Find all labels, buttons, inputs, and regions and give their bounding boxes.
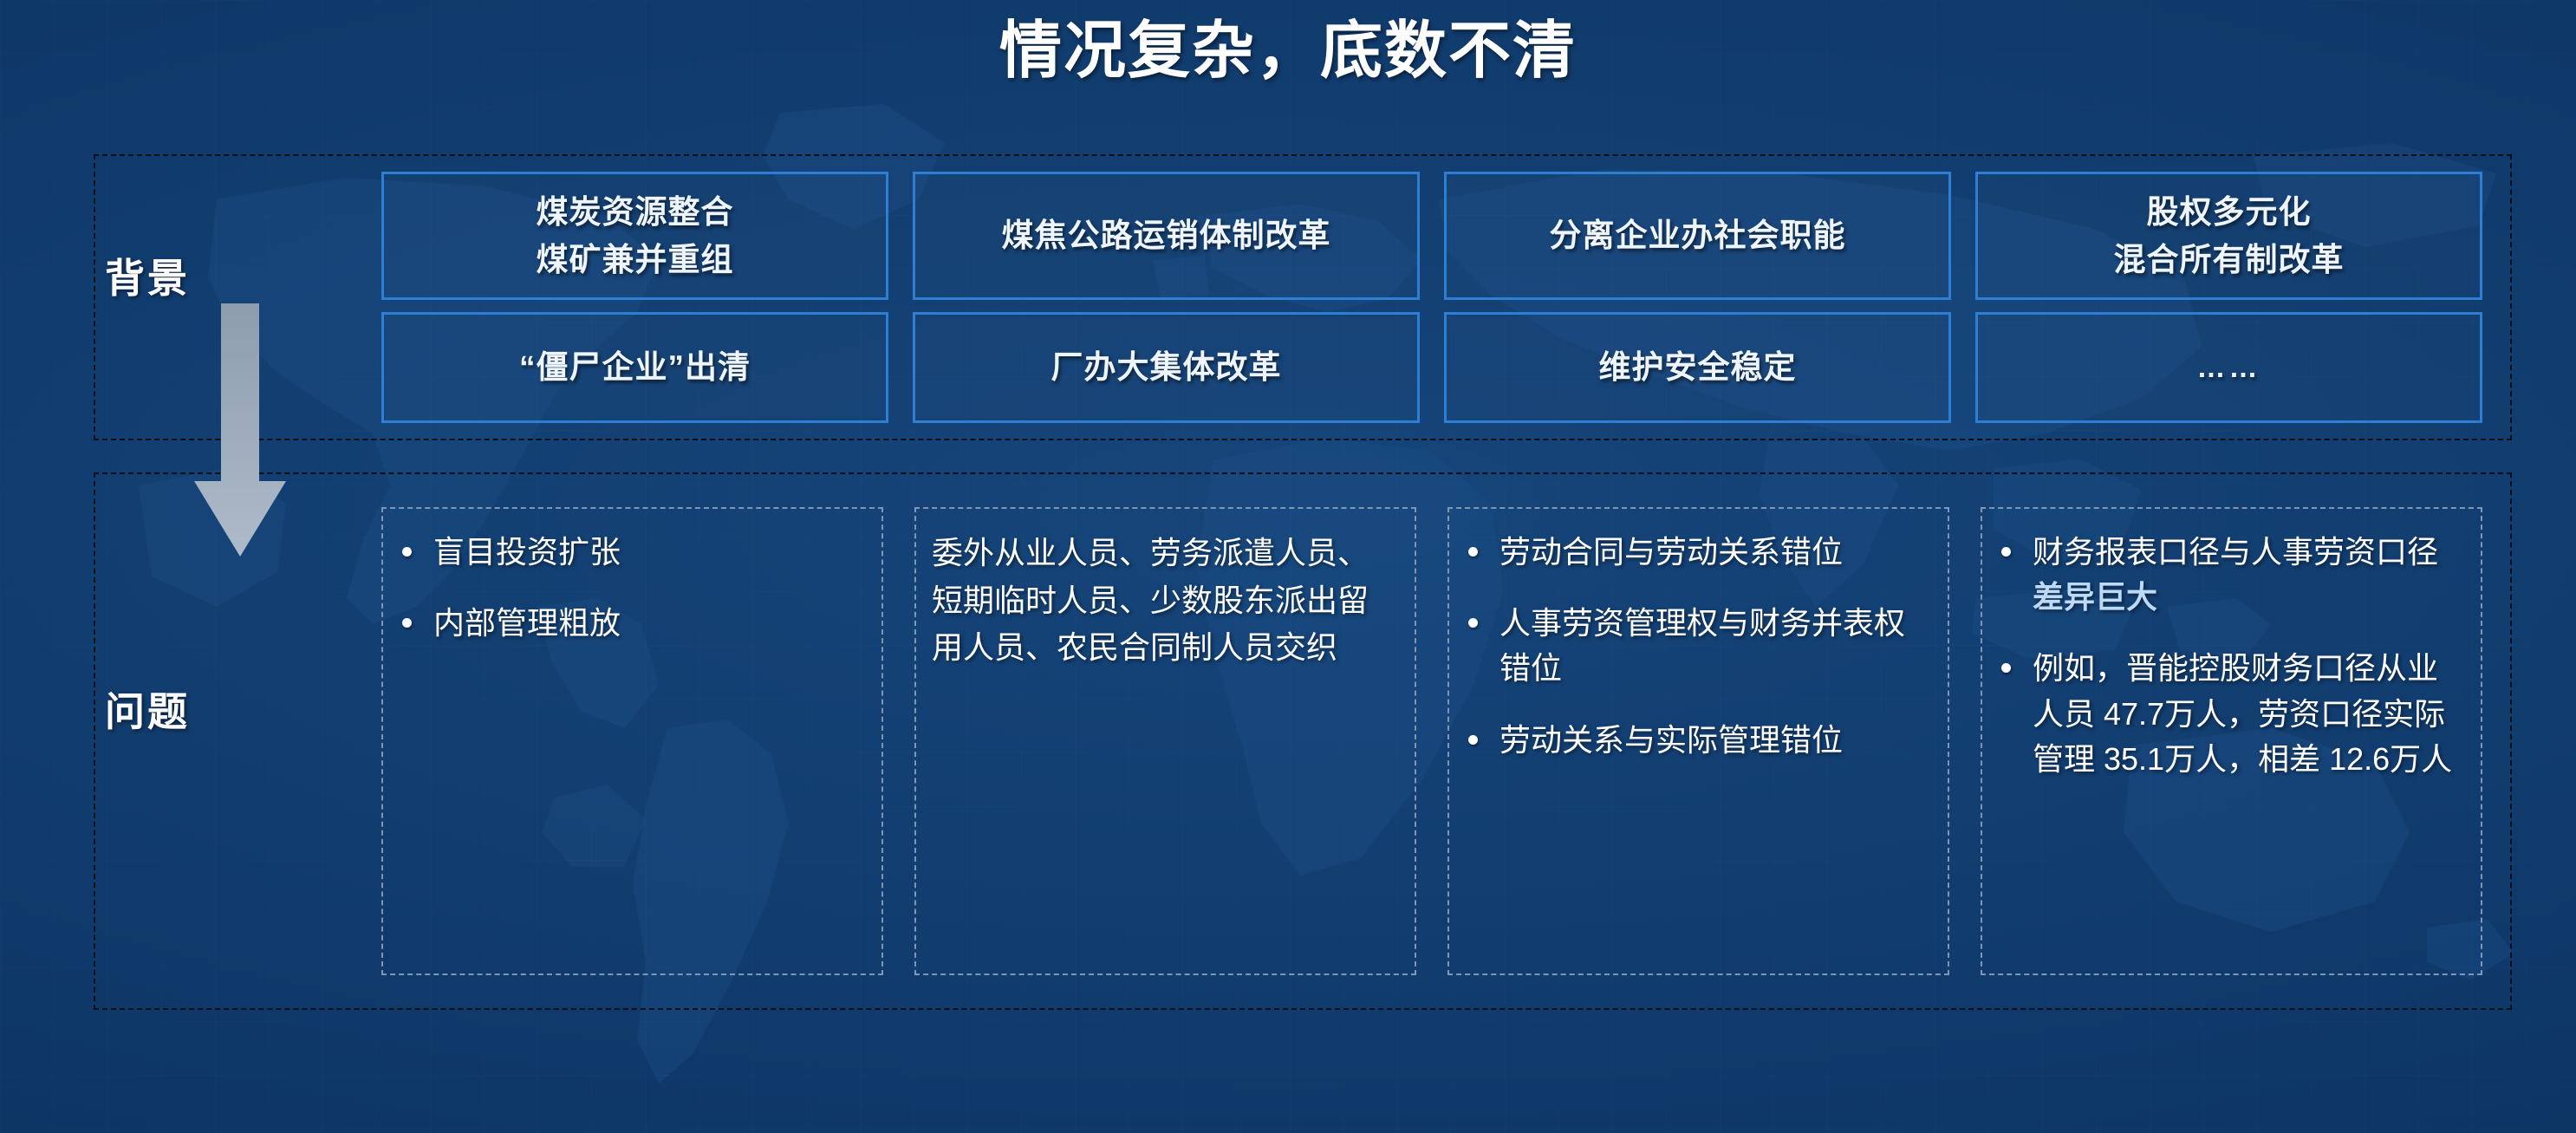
list-item-text: 财务报表口径与人事劳资口径 — [2033, 534, 2438, 570]
down-arrow-icon — [192, 303, 288, 563]
problem-column-2-list: 劳动合同与劳动关系错位 人事劳资管理权与财务并表权错位 劳动关系与实际管理错位 — [1461, 530, 1930, 763]
page-title: 情况复杂，底数不清 — [0, 12, 2576, 90]
background-item-6-line-0: 维护安全稳定 — [1599, 343, 1797, 392]
background-item-1-line-0: 煤焦公路运销体制改革 — [1002, 212, 1331, 260]
problem-column-3[interactable]: 财务报表口径与人事劳资口径差异巨大 例如，晋能控股财务口径从业人员 47.7万人… — [1981, 507, 2482, 975]
list-item: 财务报表口径与人事劳资口径差异巨大 — [1994, 530, 2463, 620]
slide-root: 情况复杂，底数不清 背景 问题 煤炭资源整合 煤矿兼并重组 煤焦公路运销体制改革… — [0, 0, 2576, 1133]
background-item-5-line-0: 厂办大集体改革 — [1051, 343, 1282, 392]
list-item-highlight: 差异巨大 — [2033, 579, 2157, 615]
background-item-2-line-0: 分离企业办社会职能 — [1550, 212, 1846, 260]
list-item: 劳动合同与劳动关系错位 — [1461, 530, 1930, 575]
problem-column-0-list: 盲目投资扩张 内部管理粗放 — [395, 530, 864, 646]
background-item-0-line-0: 煤炭资源整合 — [537, 188, 734, 237]
background-item-5[interactable]: 厂办大集体改革 — [913, 312, 1420, 423]
background-item-1[interactable]: 煤焦公路运销体制改革 — [913, 172, 1420, 300]
list-item: 劳动关系与实际管理错位 — [1461, 718, 1930, 763]
background-item-3[interactable]: 股权多元化 混合所有制改革 — [1975, 172, 2482, 300]
problem-columns-grid: 盲目投资扩张 内部管理粗放 委外从业人员、劳务派遣人员、短期临时人员、少数股东派… — [381, 507, 2482, 975]
problem-column-0[interactable]: 盲目投资扩张 内部管理粗放 — [381, 507, 883, 975]
list-item: 内部管理粗放 — [395, 601, 864, 646]
background-items-grid: 煤炭资源整合 煤矿兼并重组 煤焦公路运销体制改革 分离企业办社会职能 股权多元化… — [381, 172, 2482, 423]
background-item-3-line-1: 混合所有制改革 — [2114, 236, 2345, 284]
background-item-0[interactable]: 煤炭资源整合 煤矿兼并重组 — [381, 172, 888, 300]
background-section-label: 背景 — [48, 247, 247, 304]
problem-section-label: 问题 — [48, 680, 247, 738]
list-item: 例如，晋能控股财务口径从业人员 47.7万人，劳资口径实际管理 35.1万人，相… — [1994, 646, 2463, 782]
background-item-7[interactable]: …… — [1975, 312, 2482, 423]
problem-column-1[interactable]: 委外从业人员、劳务派遣人员、短期临时人员、少数股东派出留用人员、农民合同制人员交… — [914, 507, 1416, 975]
list-item: 盲目投资扩张 — [395, 530, 864, 575]
background-item-2[interactable]: 分离企业办社会职能 — [1444, 172, 1951, 300]
background-item-0-line-1: 煤矿兼并重组 — [537, 236, 734, 284]
background-item-6[interactable]: 维护安全稳定 — [1444, 312, 1951, 423]
background-item-7-ellipsis: …… — [2197, 346, 2261, 389]
background-item-4[interactable]: “僵尸企业”出清 — [381, 312, 888, 423]
problem-column-2[interactable]: 劳动合同与劳动关系错位 人事劳资管理权与财务并表权错位 劳动关系与实际管理错位 — [1447, 507, 1949, 975]
list-item-text: 例如，晋能控股财务口径从业人员 47.7万人，劳资口径实际管理 35.1万人，相… — [2033, 650, 2452, 776]
problem-column-1-paragraph: 委外从业人员、劳务派遣人员、短期临时人员、少数股东派出留用人员、农民合同制人员交… — [928, 530, 1397, 672]
list-item: 人事劳资管理权与财务并表权错位 — [1461, 601, 1930, 691]
background-item-3-line-0: 股权多元化 — [2147, 188, 2312, 237]
problem-column-3-list: 财务报表口径与人事劳资口径差异巨大 例如，晋能控股财务口径从业人员 47.7万人… — [1994, 530, 2463, 782]
background-item-4-line-0: “僵尸企业”出清 — [519, 343, 751, 392]
